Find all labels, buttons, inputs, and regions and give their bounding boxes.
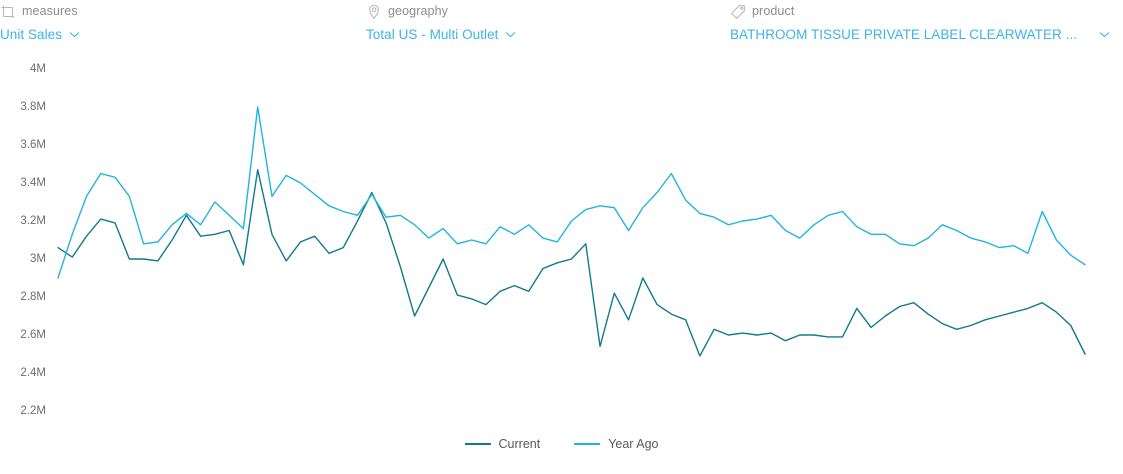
filter-measures-kind: measures — [22, 4, 78, 18]
filter-measures[interactable]: measures Unit Sales — [0, 0, 340, 44]
chevron-down-icon[interactable] — [1099, 31, 1110, 38]
filter-geography-header: geography — [366, 0, 706, 22]
filter-geography[interactable]: geography Total US - Multi Outlet — [366, 0, 706, 44]
filter-measures-header: measures — [0, 0, 340, 22]
legend-label-year-ago: Year Ago — [608, 437, 658, 451]
plot-svg — [0, 48, 1123, 428]
chevron-down-icon[interactable] — [505, 31, 516, 38]
tag-icon — [730, 4, 746, 20]
legend-label-current: Current — [499, 437, 541, 451]
location-pin-icon — [366, 4, 382, 20]
filter-product-selector[interactable]: BATHROOM TISSUE PRIVATE LABEL CLEARWATER… — [730, 24, 1110, 44]
line-chart: 4M3.8M3.6M3.4M3.2M3M2.8M2.6M2.4M2.2M Cur… — [0, 48, 1123, 474]
chart-legend: Current Year Ago — [0, 430, 1123, 458]
filter-product-header: product — [730, 0, 1110, 22]
plot-area — [0, 48, 1123, 428]
chevron-down-icon[interactable] — [69, 31, 80, 38]
filter-measures-selector[interactable]: Unit Sales — [0, 24, 340, 44]
filter-geography-kind: geography — [388, 4, 448, 18]
series-line-current[interactable] — [58, 170, 1085, 356]
filter-geography-value[interactable]: Total US - Multi Outlet — [366, 27, 498, 42]
legend-swatch-year-ago — [574, 443, 600, 445]
legend-swatch-current — [465, 443, 491, 445]
series-line-year-ago[interactable] — [58, 107, 1085, 278]
filter-bar: measures Unit Sales geography Total US -… — [0, 0, 1123, 48]
legend-item-year-ago[interactable]: Year Ago — [574, 437, 658, 451]
filter-product-value[interactable]: BATHROOM TISSUE PRIVATE LABEL CLEARWATER… — [730, 27, 1077, 42]
measure-frame-icon — [0, 4, 16, 20]
filter-geography-selector[interactable]: Total US - Multi Outlet — [366, 24, 706, 44]
legend-item-current[interactable]: Current — [465, 437, 541, 451]
filter-product[interactable]: product BATHROOM TISSUE PRIVATE LABEL CL… — [730, 0, 1110, 44]
filter-product-kind: product — [752, 4, 794, 18]
filter-measures-value[interactable]: Unit Sales — [0, 27, 62, 42]
